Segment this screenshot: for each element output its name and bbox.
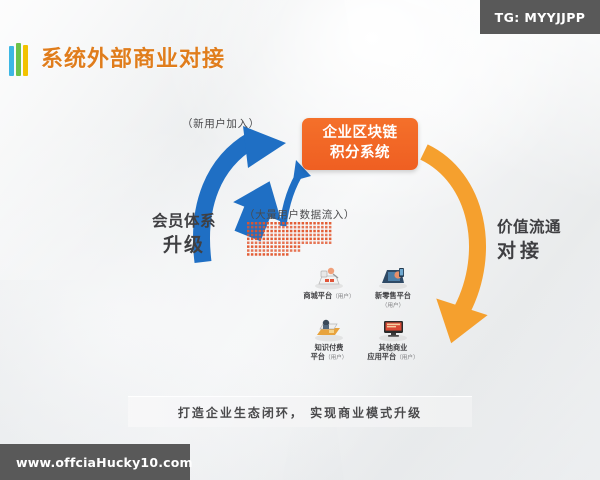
center-card-line1: 企业区块链 [323,124,398,144]
bottom-tagline-banner: 打造企业生态闭环， 实现商业模式升级 [128,396,472,427]
platform-label-knowledge-l1: 知识付费 [311,343,348,352]
right-label-bottom: 对接 [497,240,587,263]
center-card-line2: 积分系统 [330,144,390,164]
platform-label-other-l2row: 应用平台（用户） [367,352,418,362]
knowledge-pay-icon [309,314,349,342]
platform-label-mall-sub: （用户） [332,294,354,300]
platform-label-mall: 商城平台（用户） [303,291,354,301]
right-label-top: 价值流通 [497,218,587,237]
platform-label-other-l1: 其他商业 [367,343,418,352]
platform-label-knowledge-l2row: 平台（用户） [311,352,348,362]
platform-label-new-retail: 新零售平台（用户） [364,291,422,310]
platform-label-knowledge-sub: （用户） [325,355,347,361]
platform-label-knowledge: 知识付费 平台（用户） [311,343,348,362]
note-new-users: （新用户加入） [182,116,260,131]
platform-item-mall[interactable]: 商城平台（用户） [300,262,358,310]
new-retail-icon [373,262,413,290]
platform-icon-grid: 商城平台（用户） 新零售平台（用户） [300,262,422,362]
platform-label-other-l2: 应用平台 [367,352,396,361]
platform-label-other: 其他商业 应用平台（用户） [367,343,418,362]
site-watermark: www.offciaHucky10.com [0,444,190,480]
platform-label-knowledge-l2: 平台 [311,352,325,361]
left-label-bottom: 升级 [134,234,234,257]
data-dot-matrix [247,222,333,266]
left-label-member-system: 会员体系 升级 [134,212,234,256]
platform-label-other-sub: （用户） [396,355,418,361]
left-label-top: 会员体系 [134,212,234,231]
other-business-icon [373,314,413,342]
platform-item-knowledge[interactable]: 知识付费 平台（用户） [300,314,358,362]
platform-label-mall-text: 商城平台 [303,291,332,300]
platform-label-new-retail-sub: （用户） [382,303,404,309]
slide-canvas: TG: MYYJJPP 系统外部商业对接 （新用户加入） （大量用户数据流入） … [0,0,600,480]
right-label-value-flow: 价值流通 对接 [497,218,587,262]
platform-label-new-retail-text: 新零售平台 [375,291,411,300]
platform-item-other[interactable]: 其他商业 应用平台（用户） [364,314,422,362]
shopping-mall-icon [309,262,349,290]
platform-item-new-retail[interactable]: 新零售平台（用户） [364,262,422,310]
center-system-card[interactable]: 企业区块链 积分系统 [302,118,418,170]
note-data-inflow: （大量用户数据流入） [244,207,355,222]
